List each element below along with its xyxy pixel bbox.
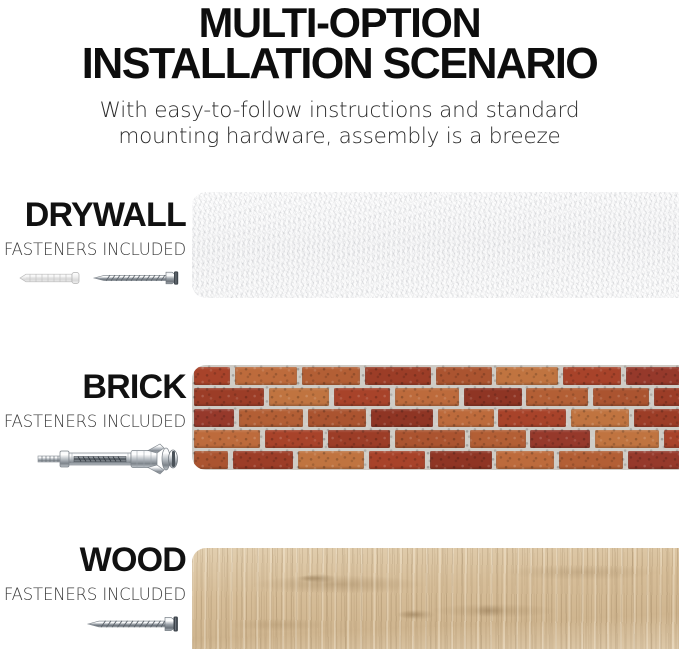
fastener-note-drywall: FASTENERS INCLUDED [0,242,186,258]
brick-course [192,407,679,428]
brick-label-column: BRICK FASTENERS INCLUDED [0,370,186,476]
wood-screw-icon [86,615,184,633]
material-name-wood: WOOD [0,543,186,577]
wood-label-column: WOOD FASTENERS INCLUDED [0,543,186,633]
fastener-note-brick: FASTENERS INCLUDED [0,414,186,430]
subtitle-line-1: With easy-to-follow instructions and sta… [26,98,653,125]
header: MULTI-OPTION INSTALLATION SCENARIO With … [0,0,679,151]
brick-texture-swatch [192,365,679,470]
molly-bolt-anchor-icon [36,442,184,476]
drywall-label-column: DRYWALL FASTENERS INCLUDED [0,198,186,286]
title-line-2: INSTALLATION SCENARIO [11,43,667,86]
subtitle-line-2: mounting hardware, assembly is a breeze [26,124,653,151]
page-subtitle: With easy-to-follow instructions and sta… [0,86,679,151]
brick-pattern [192,365,679,470]
wood-grain-knots [192,548,679,649]
screw-icon [92,270,184,286]
brick-course [192,429,679,450]
title-line-1: MULTI-OPTION [11,0,667,43]
brick-course [192,365,679,386]
material-name-drywall: DRYWALL [0,198,186,232]
material-name-brick: BRICK [0,370,186,404]
page-title: MULTI-OPTION INSTALLATION SCENARIO [3,0,675,86]
fastener-icons-brick [0,442,186,476]
wall-plug-anchor-icon [16,270,84,286]
brick-course [192,450,679,470]
fastener-icons-wood [0,615,186,633]
brick-course [192,386,679,407]
drywall-texture-swatch [192,192,679,298]
fastener-icons-drywall [0,270,186,286]
wood-texture-swatch [192,548,679,649]
fastener-note-wood: FASTENERS INCLUDED [0,587,186,603]
